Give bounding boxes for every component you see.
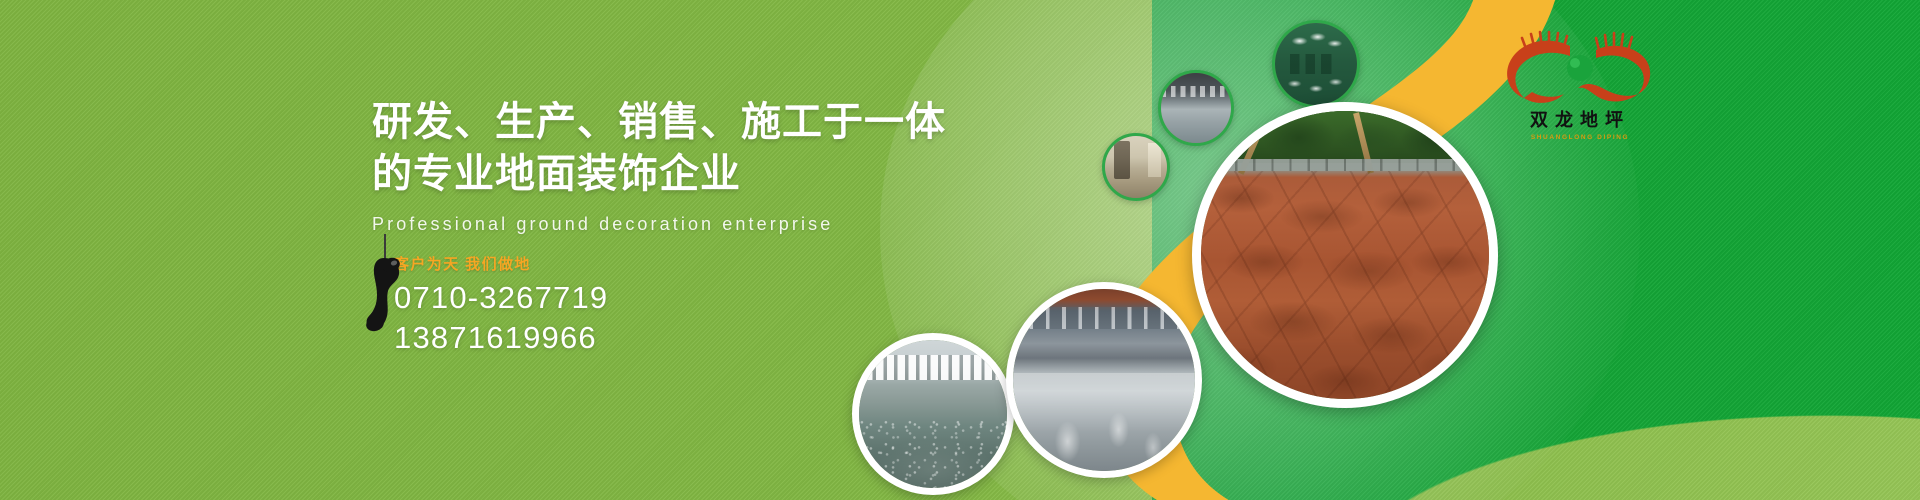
photo-corridor[interactable] [1102, 133, 1170, 201]
subtitle-english: Professional ground decoration enterpris… [372, 214, 1012, 235]
slogan-text: 客户为天 我们做地 [394, 253, 1012, 274]
company-logo[interactable]: 双龙地坪 SHUANGLONG DIPING [1490, 28, 1670, 141]
logo-company-name-pinyin: SHUANGLONG DIPING [1490, 134, 1670, 141]
photo-green-hall[interactable] [1272, 20, 1360, 108]
photo-terrazzo-floor-image [859, 340, 1007, 488]
shrub-band [1201, 111, 1489, 163]
page-title: 研发、生产、销售、施工于一体 的专业地面装饰企业 [372, 96, 1012, 200]
stamp-texture-lines [1201, 171, 1489, 399]
photo-stamped-concrete[interactable] [1192, 102, 1498, 408]
promotional-banner: 研发、生产、销售、施工于一体 的专业地面装饰企业 Professional gr… [0, 0, 1920, 500]
photo-green-hall-image [1275, 23, 1357, 105]
photo-corridor-image [1105, 136, 1167, 198]
photo-terrazzo-floor[interactable] [852, 333, 1014, 495]
twin-dragon-logo-icon [1500, 28, 1660, 110]
marketing-copy-block: 研发、生产、销售、施工于一体 的专业地面装饰企业 Professional gr… [372, 96, 1012, 359]
photo-stamped-concrete-image [1201, 111, 1489, 399]
kerb-band [1201, 159, 1489, 172]
photo-factory-floor[interactable] [1006, 282, 1202, 478]
photo-factory-floor-image [1013, 289, 1195, 471]
phone-landline[interactable]: 0710-3267719 [394, 278, 1012, 318]
